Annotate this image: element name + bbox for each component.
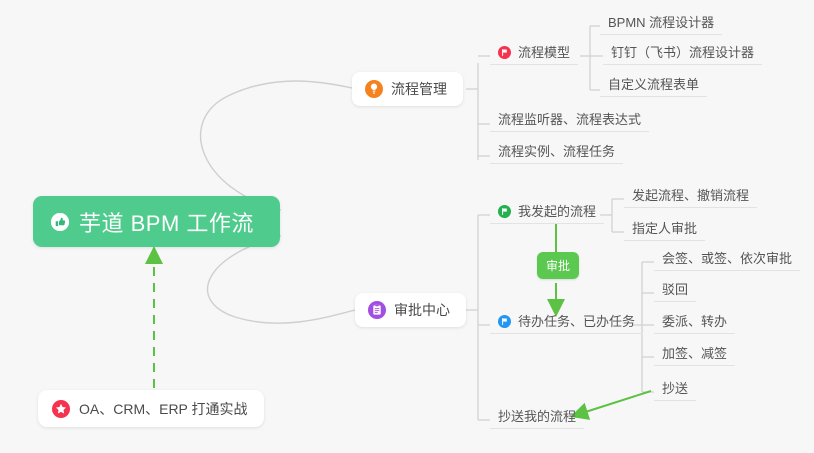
node-countersign-orsign-sequential[interactable]: 会签、或签、依次审批	[654, 252, 800, 271]
node-label: 抄送我的流程	[498, 410, 576, 423]
node-label: 发起流程、撤销流程	[632, 189, 749, 202]
node-cc[interactable]: 抄送	[654, 382, 696, 401]
flag-icon	[498, 315, 511, 328]
node-label: BPMN 流程设计器	[608, 16, 714, 29]
note-card-label: OA、CRM、ERP 打通实战	[79, 399, 248, 419]
branch-label: 审批中心	[394, 300, 450, 320]
flag-icon	[498, 46, 511, 59]
node-label: 委派、转办	[662, 315, 727, 328]
node-designated-approver[interactable]: 指定人审批	[624, 222, 705, 241]
node-bpmn-designer[interactable]: BPMN 流程设计器	[600, 16, 722, 35]
node-label: 自定义流程表单	[608, 78, 699, 91]
node-process-listener-expression[interactable]: 流程监听器、流程表达式	[490, 113, 649, 132]
node-label: 流程实例、流程任务	[498, 145, 615, 158]
clipboard-icon	[368, 301, 386, 319]
branch-node-process-management[interactable]: 流程管理	[352, 72, 463, 106]
star-icon	[52, 400, 70, 418]
node-process-instance-task[interactable]: 流程实例、流程任务	[490, 145, 623, 164]
node-label: 加签、减签	[662, 347, 727, 360]
node-label: 流程监听器、流程表达式	[498, 113, 641, 126]
thumbs-up-icon	[51, 213, 69, 231]
branch-node-approval-center[interactable]: 审批中心	[355, 293, 466, 327]
node-reject[interactable]: 驳回	[654, 283, 696, 302]
branch-label: 流程管理	[391, 79, 447, 99]
node-add-remove-signer[interactable]: 加签、减签	[654, 347, 735, 366]
node-custom-process-form[interactable]: 自定义流程表单	[600, 78, 707, 97]
approval-tag: 审批	[537, 252, 579, 279]
node-label: 我发起的流程	[518, 205, 596, 218]
node-label: 驳回	[662, 283, 688, 296]
lightbulb-icon	[365, 80, 383, 98]
note-card-integration[interactable]: OA、CRM、ERP 打通实战	[38, 390, 264, 427]
node-label: 抄送	[662, 382, 688, 395]
node-process-model[interactable]: 流程模型	[490, 46, 578, 65]
mindmap-canvas: 芋道 BPM 工作流 流程管理 流程模型 BPMN 流程设计器 钉钉（飞书	[0, 0, 814, 453]
node-start-cancel-process[interactable]: 发起流程、撤销流程	[624, 189, 757, 208]
flag-icon	[498, 205, 511, 218]
node-label: 指定人审批	[632, 222, 697, 235]
node-todo-done-tasks[interactable]: 待办任务、已办任务	[490, 315, 643, 334]
node-cc-to-me-processes[interactable]: 抄送我的流程	[490, 410, 584, 429]
node-label: 流程模型	[518, 46, 570, 59]
root-label: 芋道 BPM 工作流	[79, 206, 254, 238]
node-label: 会签、或签、依次审批	[662, 252, 792, 265]
node-my-initiated-processes[interactable]: 我发起的流程	[490, 205, 604, 224]
node-label: 待办任务、已办任务	[518, 315, 635, 328]
root-node[interactable]: 芋道 BPM 工作流	[33, 196, 280, 247]
approval-tag-label: 审批	[546, 259, 570, 273]
node-delegate-transfer[interactable]: 委派、转办	[654, 315, 735, 334]
node-label: 钉钉（飞书）流程设计器	[611, 46, 754, 59]
node-dingtalk-feishu-designer[interactable]: 钉钉（飞书）流程设计器	[603, 46, 762, 65]
